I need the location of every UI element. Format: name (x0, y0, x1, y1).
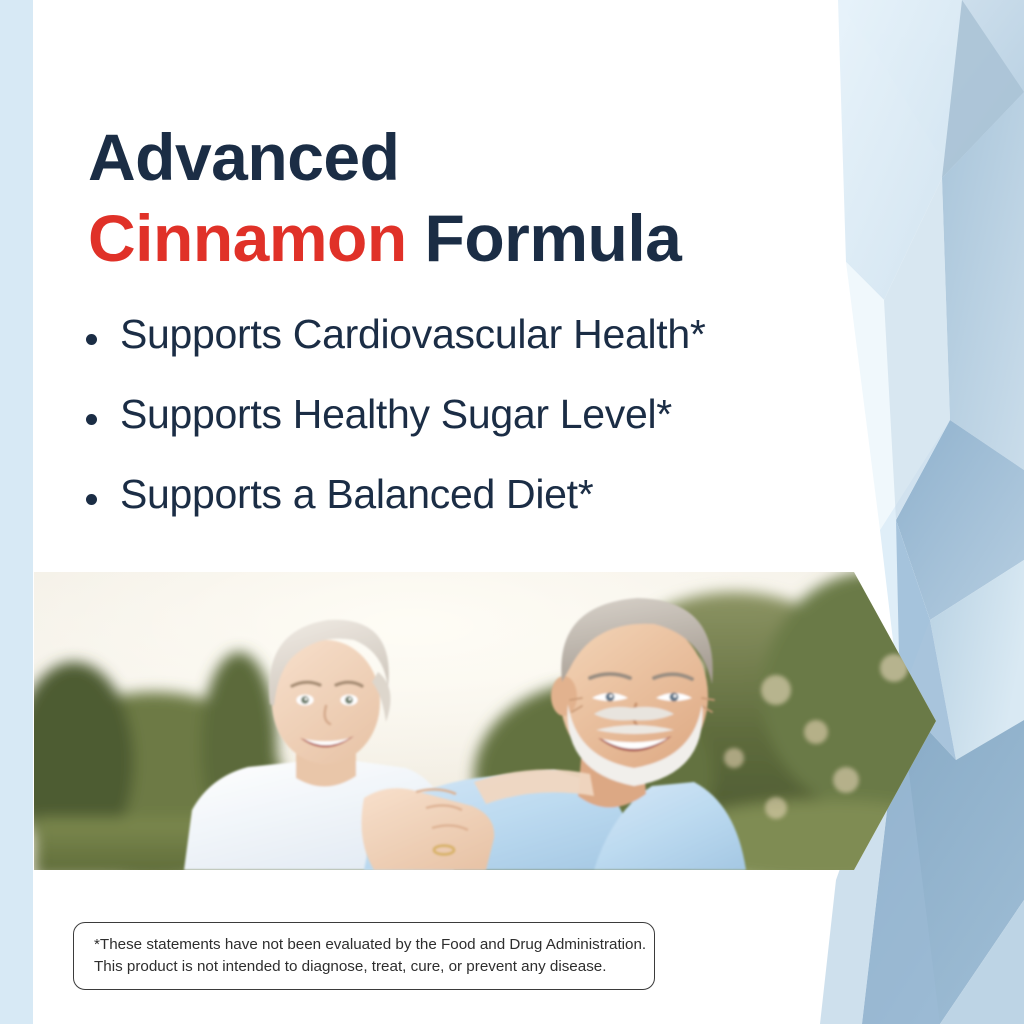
benefits-list: Supports Cardiovascular Health* Supports… (86, 312, 886, 552)
list-item: Supports a Balanced Diet* (86, 472, 886, 518)
page-title: Advanced Cinnamon Formula (88, 126, 848, 271)
headline-line-1: Advanced (88, 126, 848, 189)
headline-highlight-word: Cinnamon (88, 201, 407, 275)
bullet-dot-icon (86, 414, 97, 425)
lifestyle-photo (34, 572, 936, 870)
disclaimer-line-2: This product is not intended to diagnose… (94, 956, 634, 978)
benefit-label: Supports Cardiovascular Health* (120, 312, 706, 358)
bullet-dot-icon (86, 494, 97, 505)
benefit-label: Supports Healthy Sugar Level* (120, 392, 672, 438)
fda-disclaimer-box: *These statements have not been evaluate… (73, 922, 655, 990)
poster-canvas: Advanced Cinnamon Formula Supports Cardi… (0, 0, 1024, 1024)
left-accent-strip (0, 0, 33, 1024)
list-item: Supports Healthy Sugar Level* (86, 392, 886, 438)
benefit-label: Supports a Balanced Diet* (120, 472, 593, 518)
list-item: Supports Cardiovascular Health* (86, 312, 886, 358)
headline-line-2: Cinnamon Formula (88, 207, 848, 270)
headline-line-2-rest: Formula (425, 201, 682, 275)
disclaimer-line-1: *These statements have not been evaluate… (94, 934, 634, 956)
bullet-dot-icon (86, 334, 97, 345)
